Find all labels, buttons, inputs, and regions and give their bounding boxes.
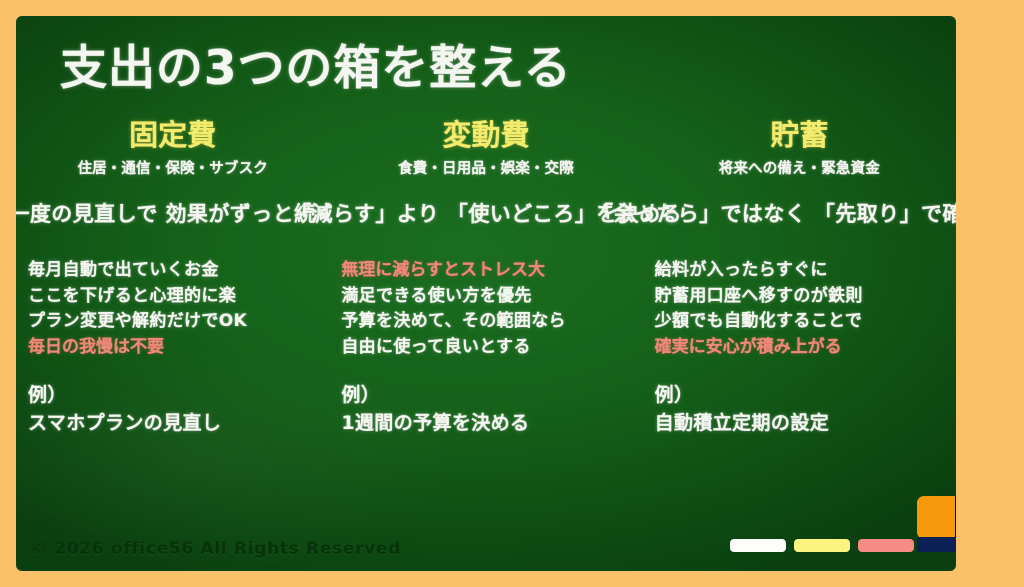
body-line: 毎月自動で出ていくお金 (28, 258, 317, 284)
column-subtitle: 将来への備え・緊急資金 (719, 161, 880, 178)
chalkboard: 支出の3つの箱を整える 固定費 住居・通信・保険・サブスク 一度の見直しで 効果… (16, 16, 956, 571)
body-line: 満足できる使い方を優先 (341, 284, 630, 310)
wooden-frame: 支出の3つの箱を整える 固定費 住居・通信・保険・サブスク 一度の見直しで 効果… (0, 0, 1024, 587)
example-text: スマホプランの見直し (28, 410, 317, 438)
column-subtitle: 住居・通信・保険・サブスク (77, 161, 267, 178)
column-subtitle: 食費・日用品・娯楽・交際 (398, 161, 574, 178)
body-line: 予算を決めて、その範囲なら (341, 309, 630, 335)
column-heading: 貯蓄 (770, 120, 828, 152)
example-text: 1週間の予算を決める (341, 410, 630, 438)
page-title: 支出の3つの箱を整える (60, 42, 572, 96)
copyright-notice: © 2026 office56 All Rights Reserved (30, 539, 401, 559)
column-example: 例） 自動積立定期の設定 (655, 382, 944, 437)
column-lede: 一度の見直しで 効果がずっと続く (16, 200, 337, 230)
column-example: 例） スマホプランの見直し (28, 382, 317, 437)
column-lede-line1: 「減らす」より (290, 202, 439, 226)
column-heading: 固定費 (129, 120, 216, 152)
three-column-layout: 固定費 住居・通信・保険・サブスク 一度の見直しで 効果がずっと続く 毎月自動で… (16, 120, 956, 437)
column-lede-line1: 「余ったら」ではなく (592, 202, 806, 226)
column-body: 無理に減らすとストレス大 満足できる使い方を優先 予算を決めて、その範囲なら 自… (341, 258, 630, 360)
example-label: 例） (341, 382, 630, 410)
yellow-chalk-stick-icon (794, 539, 850, 552)
example-text: 自動積立定期の設定 (655, 410, 944, 438)
body-line: プラン変更や解約だけでOK (28, 309, 317, 335)
column-lede: 「余ったら」ではなく 「先取り」で確実に (592, 200, 956, 230)
column-lede-line1: 一度の見直しで (16, 202, 158, 226)
column-savings: 貯蓄 将来への備え・緊急資金 「余ったら」ではなく 「先取り」で確実に 給料が入… (643, 120, 956, 437)
column-example: 例） 1週間の予算を決める (341, 382, 630, 437)
body-line: 少額でも自動化することで (655, 309, 944, 335)
body-line-highlight: 無理に減らすとストレス大 (341, 258, 630, 284)
column-body: 毎月自動で出ていくお金 ここを下げると心理的に楽 プラン変更や解約だけでOK 毎… (28, 258, 317, 360)
body-line-highlight: 毎日の我慢は不要 (28, 335, 317, 361)
body-line: 自由に使って良いとする (341, 335, 630, 361)
column-fixed-costs: 固定費 住居・通信・保険・サブスク 一度の見直しで 効果がずっと続く 毎月自動で… (16, 120, 329, 437)
body-line: 貯蓄用口座へ移すのが鉄則 (655, 284, 944, 310)
pink-chalk-stick-icon (858, 539, 914, 552)
eraser-base (917, 537, 956, 552)
blackboard-eraser-icon (917, 496, 956, 552)
column-lede-line2: 「先取り」で確実に (814, 202, 956, 226)
chalkboard-content: 支出の3つの箱を整える 固定費 住居・通信・保険・サブスク 一度の見直しで 効果… (16, 16, 956, 571)
body-line: ここを下げると心理的に楽 (28, 284, 317, 310)
example-label: 例） (28, 382, 317, 410)
column-variable-costs: 変動費 食費・日用品・娯楽・交際 「減らす」より 「使いどころ」を決める 無理に… (329, 120, 642, 437)
column-body: 給料が入ったらすぐに 貯蓄用口座へ移すのが鉄則 少額でも自動化することで 確実に… (655, 258, 944, 360)
body-line: 給料が入ったらすぐに (655, 258, 944, 284)
white-chalk-stick-icon (730, 539, 786, 552)
column-heading: 変動費 (442, 120, 529, 152)
body-line-highlight: 確実に安心が積み上がる (655, 335, 944, 361)
eraser-felt-left (917, 496, 955, 539)
example-label: 例） (655, 382, 944, 410)
